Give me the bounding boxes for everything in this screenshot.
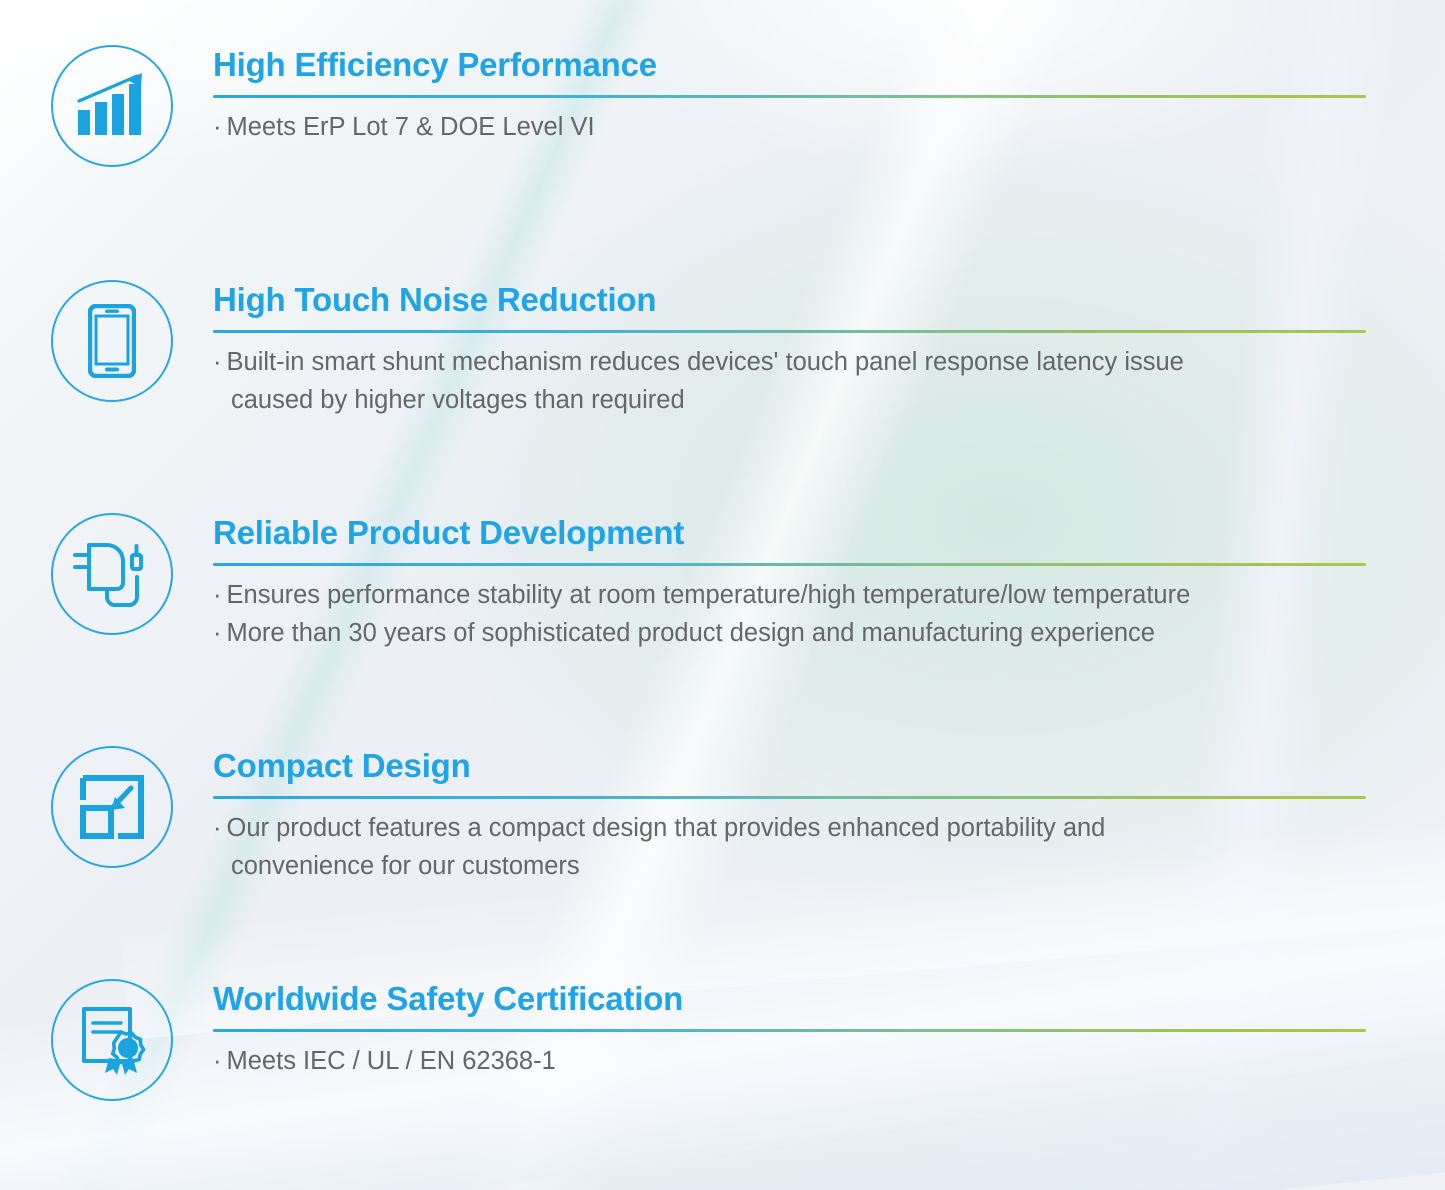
bullet-line: Meets IEC / UL / EN 62368-1 — [227, 1047, 556, 1075]
feature-item-compact-design: Compact Design ·Our product features a c… — [48, 743, 1366, 886]
feature-divider — [213, 796, 1366, 799]
bullet-line: Our product features a compact design th… — [227, 814, 1106, 842]
feature-text-block: High Touch Noise Reduction ·Built-in sma… — [213, 277, 1366, 420]
bullet-item: ·Ensures performance stability at room t… — [213, 577, 1366, 615]
feature-icon-wrapper — [48, 42, 176, 170]
bullet-line-continued: convenience for our customers — [213, 848, 1366, 886]
power-adapter-icon — [69, 537, 155, 611]
bullet-item: ·Our product features a compact design t… — [213, 810, 1366, 886]
feature-text-block: Worldwide Safety Certification ·Meets IE… — [213, 976, 1366, 1081]
feature-title: High Touch Noise Reduction — [213, 283, 1366, 318]
feature-title: High Efficiency Performance — [213, 48, 1366, 83]
feature-item-high-efficiency-performance: High Efficiency Performance ·Meets ErP L… — [48, 42, 1366, 170]
bullet-marker: · — [213, 113, 227, 141]
bar-chart-growth-icon — [75, 71, 149, 141]
feature-item-worldwide-safety-certification: Worldwide Safety Certification ·Meets IE… — [48, 976, 1366, 1104]
feature-icon-wrapper — [48, 277, 176, 405]
feature-divider — [213, 1029, 1366, 1032]
feature-item-reliable-product-development: Reliable Product Development ·Ensures pe… — [48, 510, 1366, 653]
feature-title: Worldwide Safety Certification — [213, 982, 1366, 1017]
icon-circle-border — [51, 746, 173, 868]
smartphone-icon — [88, 304, 136, 378]
feature-title: Reliable Product Development — [213, 516, 1366, 551]
feature-bullets: ·Meets ErP Lot 7 & DOE Level VI — [213, 109, 1366, 147]
bullet-item: ·Built-in smart shunt mechanism reduces … — [213, 344, 1366, 420]
feature-text-block: Reliable Product Development ·Ensures pe… — [213, 510, 1366, 653]
bullet-item: ·Meets IEC / UL / EN 62368-1 — [213, 1043, 1366, 1081]
bullet-line: More than 30 years of sophisticated prod… — [227, 619, 1155, 647]
feature-bullets: ·Meets IEC / UL / EN 62368-1 — [213, 1043, 1366, 1081]
icon-circle-border — [51, 513, 173, 635]
feature-divider — [213, 330, 1366, 333]
feature-bullets: ·Built-in smart shunt mechanism reduces … — [213, 344, 1366, 420]
feature-icon-wrapper — [48, 976, 176, 1104]
feature-list: High Efficiency Performance ·Meets ErP L… — [0, 0, 1445, 1190]
bullet-item: ·More than 30 years of sophisticated pro… — [213, 615, 1366, 653]
icon-circle-border — [51, 280, 173, 402]
feature-bullets: ·Our product features a compact design t… — [213, 810, 1366, 886]
bullet-line: Ensures performance stability at room te… — [227, 581, 1191, 609]
feature-divider — [213, 563, 1366, 566]
bullet-marker: · — [213, 619, 227, 647]
feature-icon-wrapper — [48, 743, 176, 871]
icon-circle-border — [51, 45, 173, 167]
bullet-line: Built-in smart shunt mechanism reduces d… — [227, 348, 1184, 376]
feature-bullets: ·Ensures performance stability at room t… — [213, 577, 1366, 653]
feature-title: Compact Design — [213, 749, 1366, 784]
feature-list-page: High Efficiency Performance ·Meets ErP L… — [0, 0, 1445, 1190]
bullet-marker: · — [213, 581, 227, 609]
bullet-marker: · — [213, 814, 227, 842]
bullet-item: ·Meets ErP Lot 7 & DOE Level VI — [213, 109, 1366, 147]
feature-divider — [213, 95, 1366, 98]
compact-resize-icon — [77, 772, 147, 842]
bullet-marker: · — [213, 1047, 227, 1075]
bullet-line-continued: caused by higher voltages than required — [213, 382, 1366, 420]
bullet-marker: · — [213, 348, 227, 376]
certificate-seal-icon — [76, 1003, 148, 1077]
feature-text-block: Compact Design ·Our product features a c… — [213, 743, 1366, 886]
feature-item-high-touch-noise-reduction: High Touch Noise Reduction ·Built-in sma… — [48, 277, 1366, 420]
icon-circle-border — [51, 979, 173, 1101]
feature-icon-wrapper — [48, 510, 176, 638]
feature-text-block: High Efficiency Performance ·Meets ErP L… — [213, 42, 1366, 147]
bullet-line: Meets ErP Lot 7 & DOE Level VI — [227, 113, 595, 141]
